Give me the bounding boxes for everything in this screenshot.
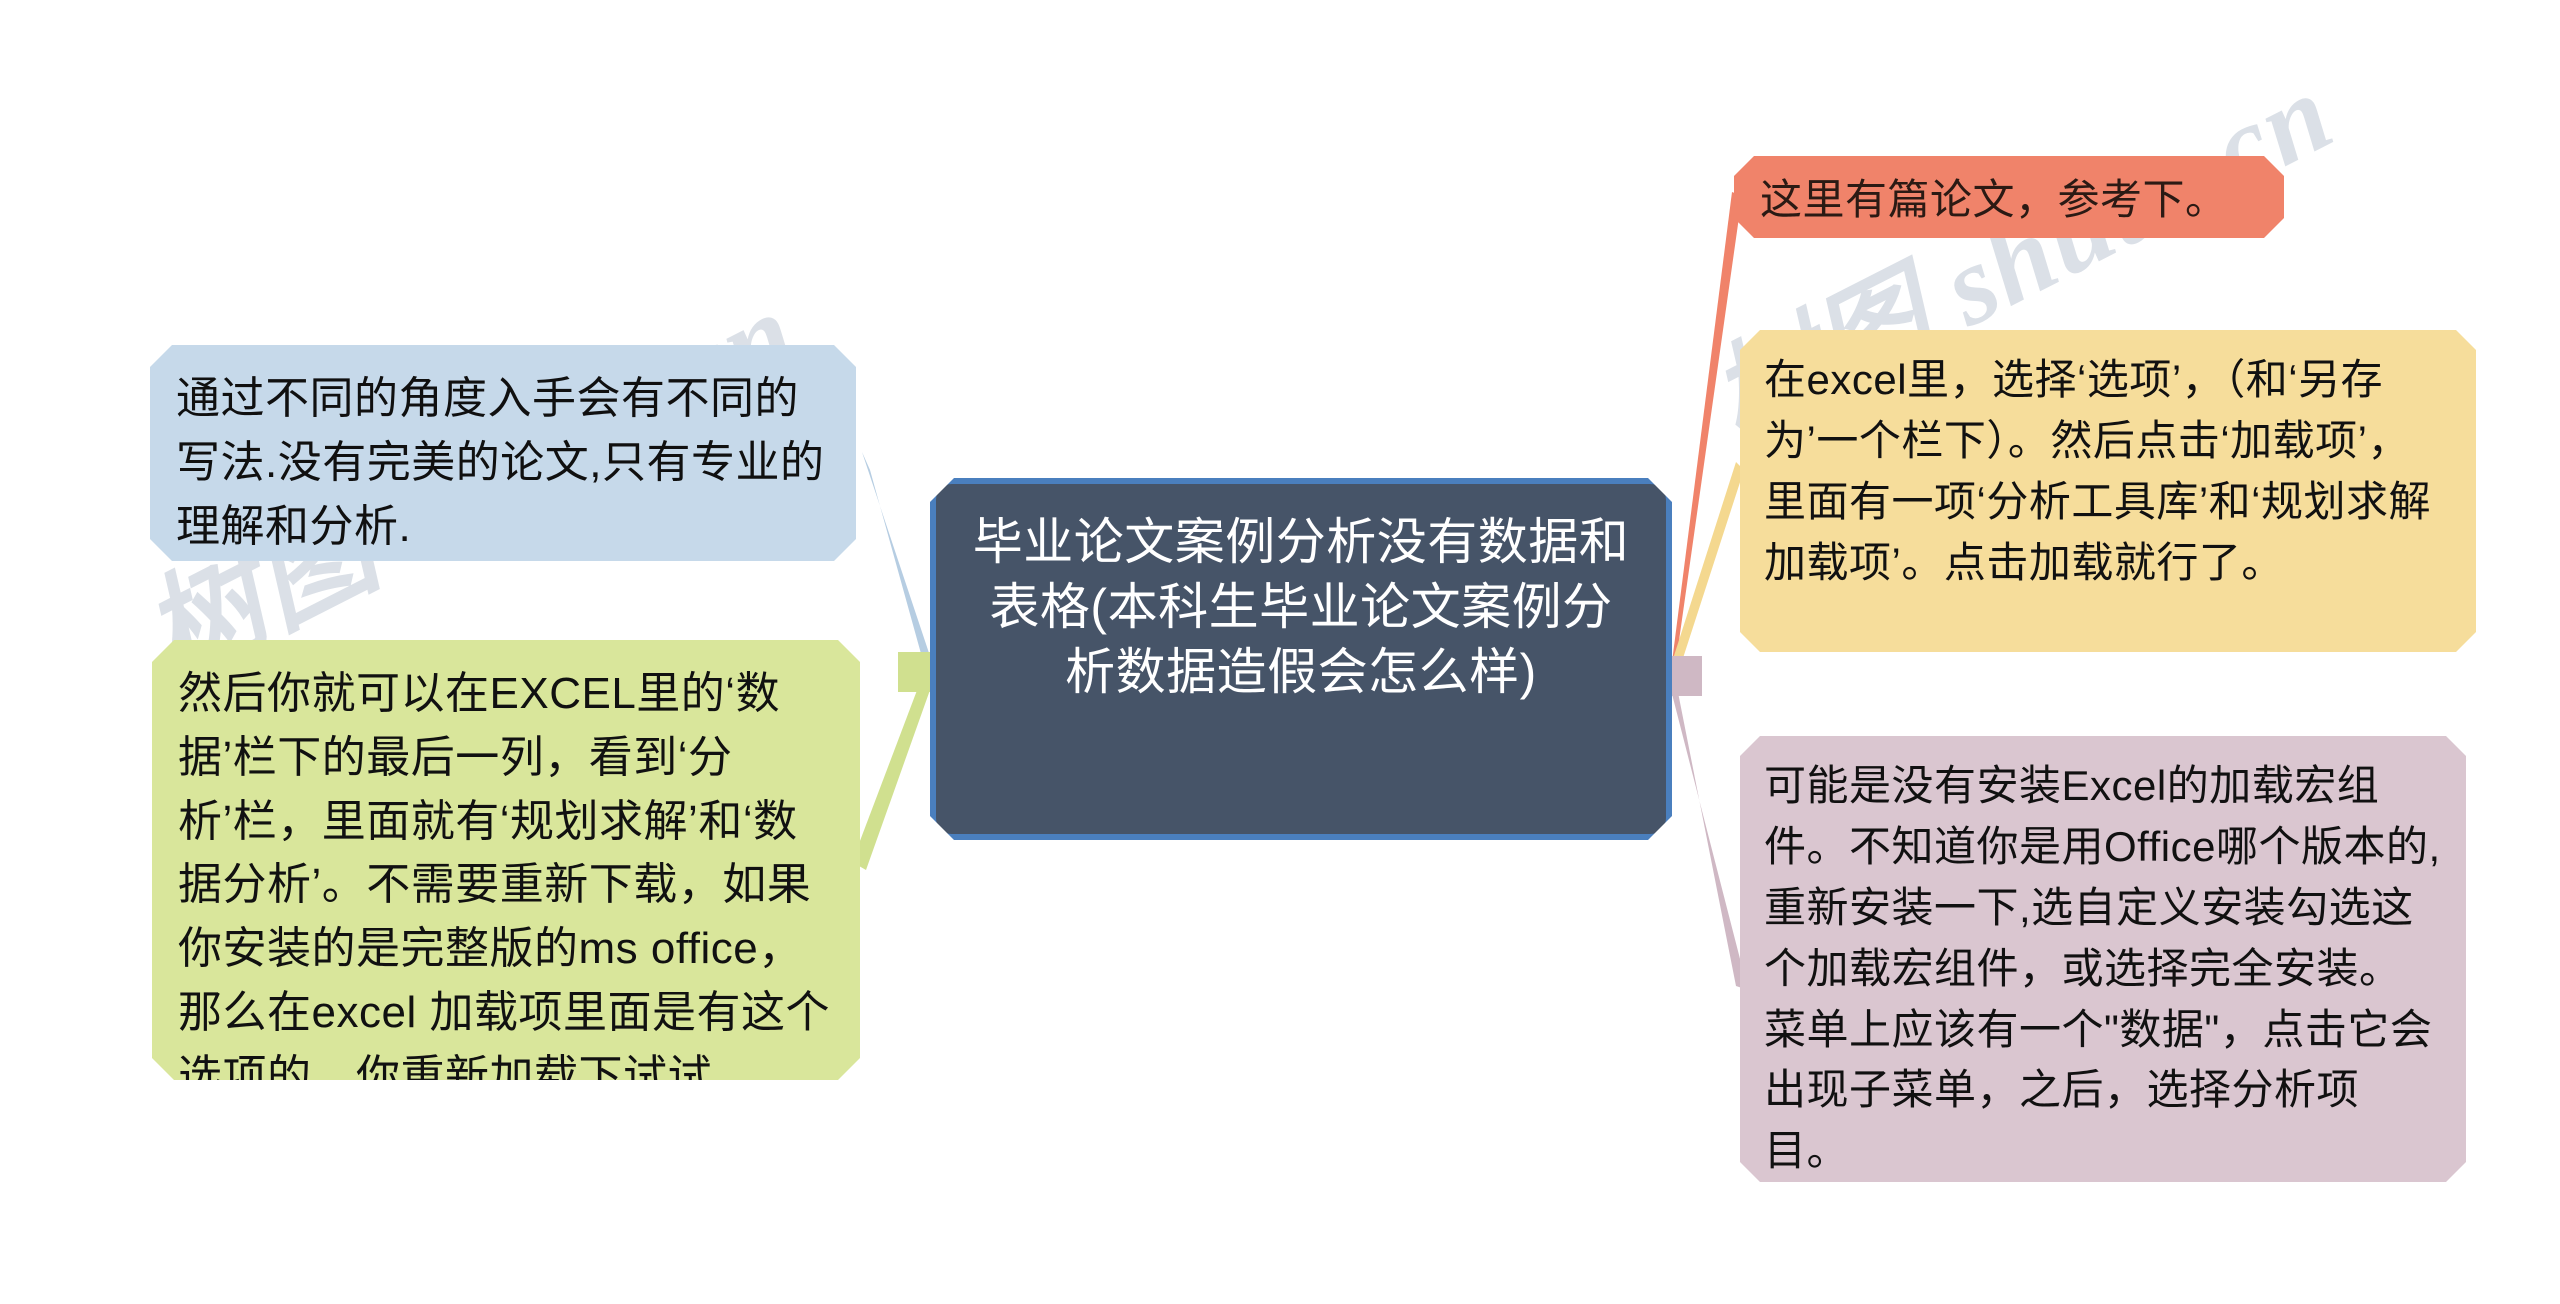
branch-node-purple-label: 可能是没有安装Excel的加载宏组件。不知道你是用Office哪个版本的,重新安… <box>1764 756 2442 1182</box>
branch-node-orange[interactable]: 这里有篇论文，参考下。 <box>1734 156 2284 238</box>
branch-node-green-label: 然后你就可以在EXCEL里的‘数据’栏下的最后一列，看到‘分析’栏，里面就有‘规… <box>178 662 834 1080</box>
branch-node-purple[interactable]: 可能是没有安装Excel的加载宏组件。不知道你是用Office哪个版本的,重新安… <box>1740 736 2466 1182</box>
branch-node-green[interactable]: 然后你就可以在EXCEL里的‘数据’栏下的最后一列，看到‘分析’栏，里面就有‘规… <box>152 640 860 1080</box>
connector-purple <box>1672 662 1748 990</box>
branch-node-yellow[interactable]: 在excel里，选择‘选项’，（和‘另存为’一个栏下）。然后点击‘加载项’，里面… <box>1740 330 2476 652</box>
root-node-label: 毕业论文案例分析没有数据和表格(本科生毕业论文案例分析数据造假会怎么样) <box>970 510 1632 834</box>
mindmap-canvas: 树图 shutu.cn 树图 shutu.cn 通过不同的角度入手会有不同的写法… <box>0 0 2560 1304</box>
connector-blue <box>862 452 930 686</box>
branch-node-orange-label: 这里有篇论文，参考下。 <box>1760 170 2258 238</box>
branch-node-yellow-label: 在excel里，选择‘选项’，（和‘另存为’一个栏下）。然后点击‘加载项’，里面… <box>1764 350 2452 652</box>
connector-blue-stub <box>898 652 934 692</box>
branch-node-blue[interactable]: 通过不同的角度入手会有不同的写法.没有完美的论文,只有专业的理解和分析. <box>150 345 856 561</box>
root-node[interactable]: 毕业论文案例分析没有数据和表格(本科生毕业论文案例分析数据造假会怎么样) <box>930 478 1672 840</box>
branch-node-blue-label: 通过不同的角度入手会有不同的写法.没有完美的论文,只有专业的理解和分析. <box>176 367 830 561</box>
connector-orange <box>1672 192 1742 690</box>
